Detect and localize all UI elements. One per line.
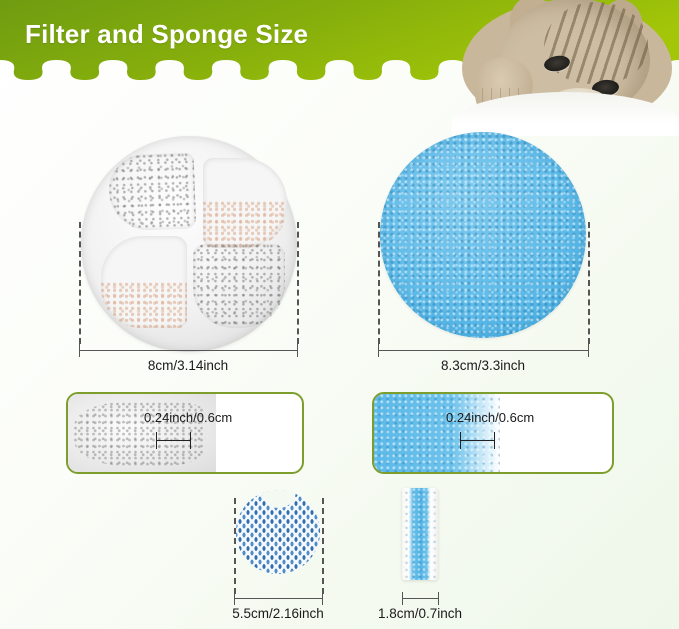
- sponge-thickness-bar: [460, 440, 494, 441]
- strip-dim-tick-left: [402, 592, 403, 605]
- sponge-thickness-label: 0.24inch/0.6cm: [446, 410, 534, 425]
- filter-dim-tick-left: [79, 343, 80, 357]
- sponge-foam-texture: [380, 132, 586, 338]
- honeycomb-dim-bar: [234, 598, 322, 599]
- sponge-dim-bar: [378, 350, 588, 351]
- filter-pad-pink-zone: [101, 282, 187, 328]
- filter-diameter-label: 8cm/3.14inch: [79, 358, 297, 373]
- filter-pad-top-left: [108, 153, 197, 232]
- honeycomb-dim-line-left: [234, 498, 236, 594]
- sponge-thickness-end-left: [460, 432, 461, 449]
- sponge-dim-tick-right: [588, 343, 589, 357]
- sponge-dim-line-right: [588, 222, 590, 344]
- cat-stripes: [544, 2, 648, 84]
- page-title: Filter and Sponge Size: [25, 19, 308, 50]
- product-stage: 8cm/3.14inch 8.3cm/3.3inch 0.24inch/0.6c…: [0, 92, 679, 629]
- filter-thickness-callout: 0.24inch/0.6cm: [66, 392, 304, 474]
- carbon-filter-disc: [81, 136, 297, 352]
- honeycomb-dim-tick-left: [234, 592, 235, 605]
- infographic-page: Filter and Sponge Size: [0, 0, 679, 629]
- honeycomb-dim-tick-right: [322, 592, 323, 605]
- layered-strip: [402, 488, 438, 580]
- sponge-diameter-label: 8.3cm/3.3inch: [378, 358, 588, 373]
- filter-pad-top-right: [203, 158, 287, 248]
- filter-dim-line-right: [297, 222, 299, 344]
- strip-width-label: 1.8cm/0.7inch: [364, 606, 476, 621]
- honeycomb-disc: [236, 490, 320, 574]
- sponge-dim-tick-left: [378, 343, 379, 357]
- filter-dim-line-left: [79, 222, 81, 344]
- filter-pad-pink-zone: [203, 201, 287, 248]
- filter-thickness-end-right: [190, 432, 191, 449]
- honeycomb-dim-line-right: [322, 498, 324, 594]
- filter-thickness-label: 0.24inch/0.6cm: [144, 410, 232, 425]
- filter-dim-bar: [79, 350, 297, 351]
- strip-dim-tick-right: [438, 592, 439, 605]
- sponge-thickness-callout: 0.24inch/0.6cm: [372, 392, 614, 474]
- blue-sponge-disc: [380, 132, 586, 338]
- layered-strip-texture: [402, 488, 438, 580]
- honeycomb-diameter-label: 5.5cm/2.16inch: [214, 606, 342, 621]
- filter-pad-bottom-right: [193, 244, 285, 328]
- sponge-closeup-image: [374, 394, 500, 472]
- filter-thickness-end-left: [156, 432, 157, 449]
- filter-dim-tick-right: [297, 343, 298, 357]
- filter-thickness-bar: [156, 440, 190, 441]
- filter-pad-bottom-left: [101, 236, 187, 328]
- strip-dim-bar: [402, 598, 438, 599]
- filter-closeup-image: [68, 394, 216, 472]
- sponge-closeup-texture: [374, 394, 500, 472]
- sponge-thickness-end-right: [494, 432, 495, 449]
- sponge-dim-line-left: [378, 222, 380, 344]
